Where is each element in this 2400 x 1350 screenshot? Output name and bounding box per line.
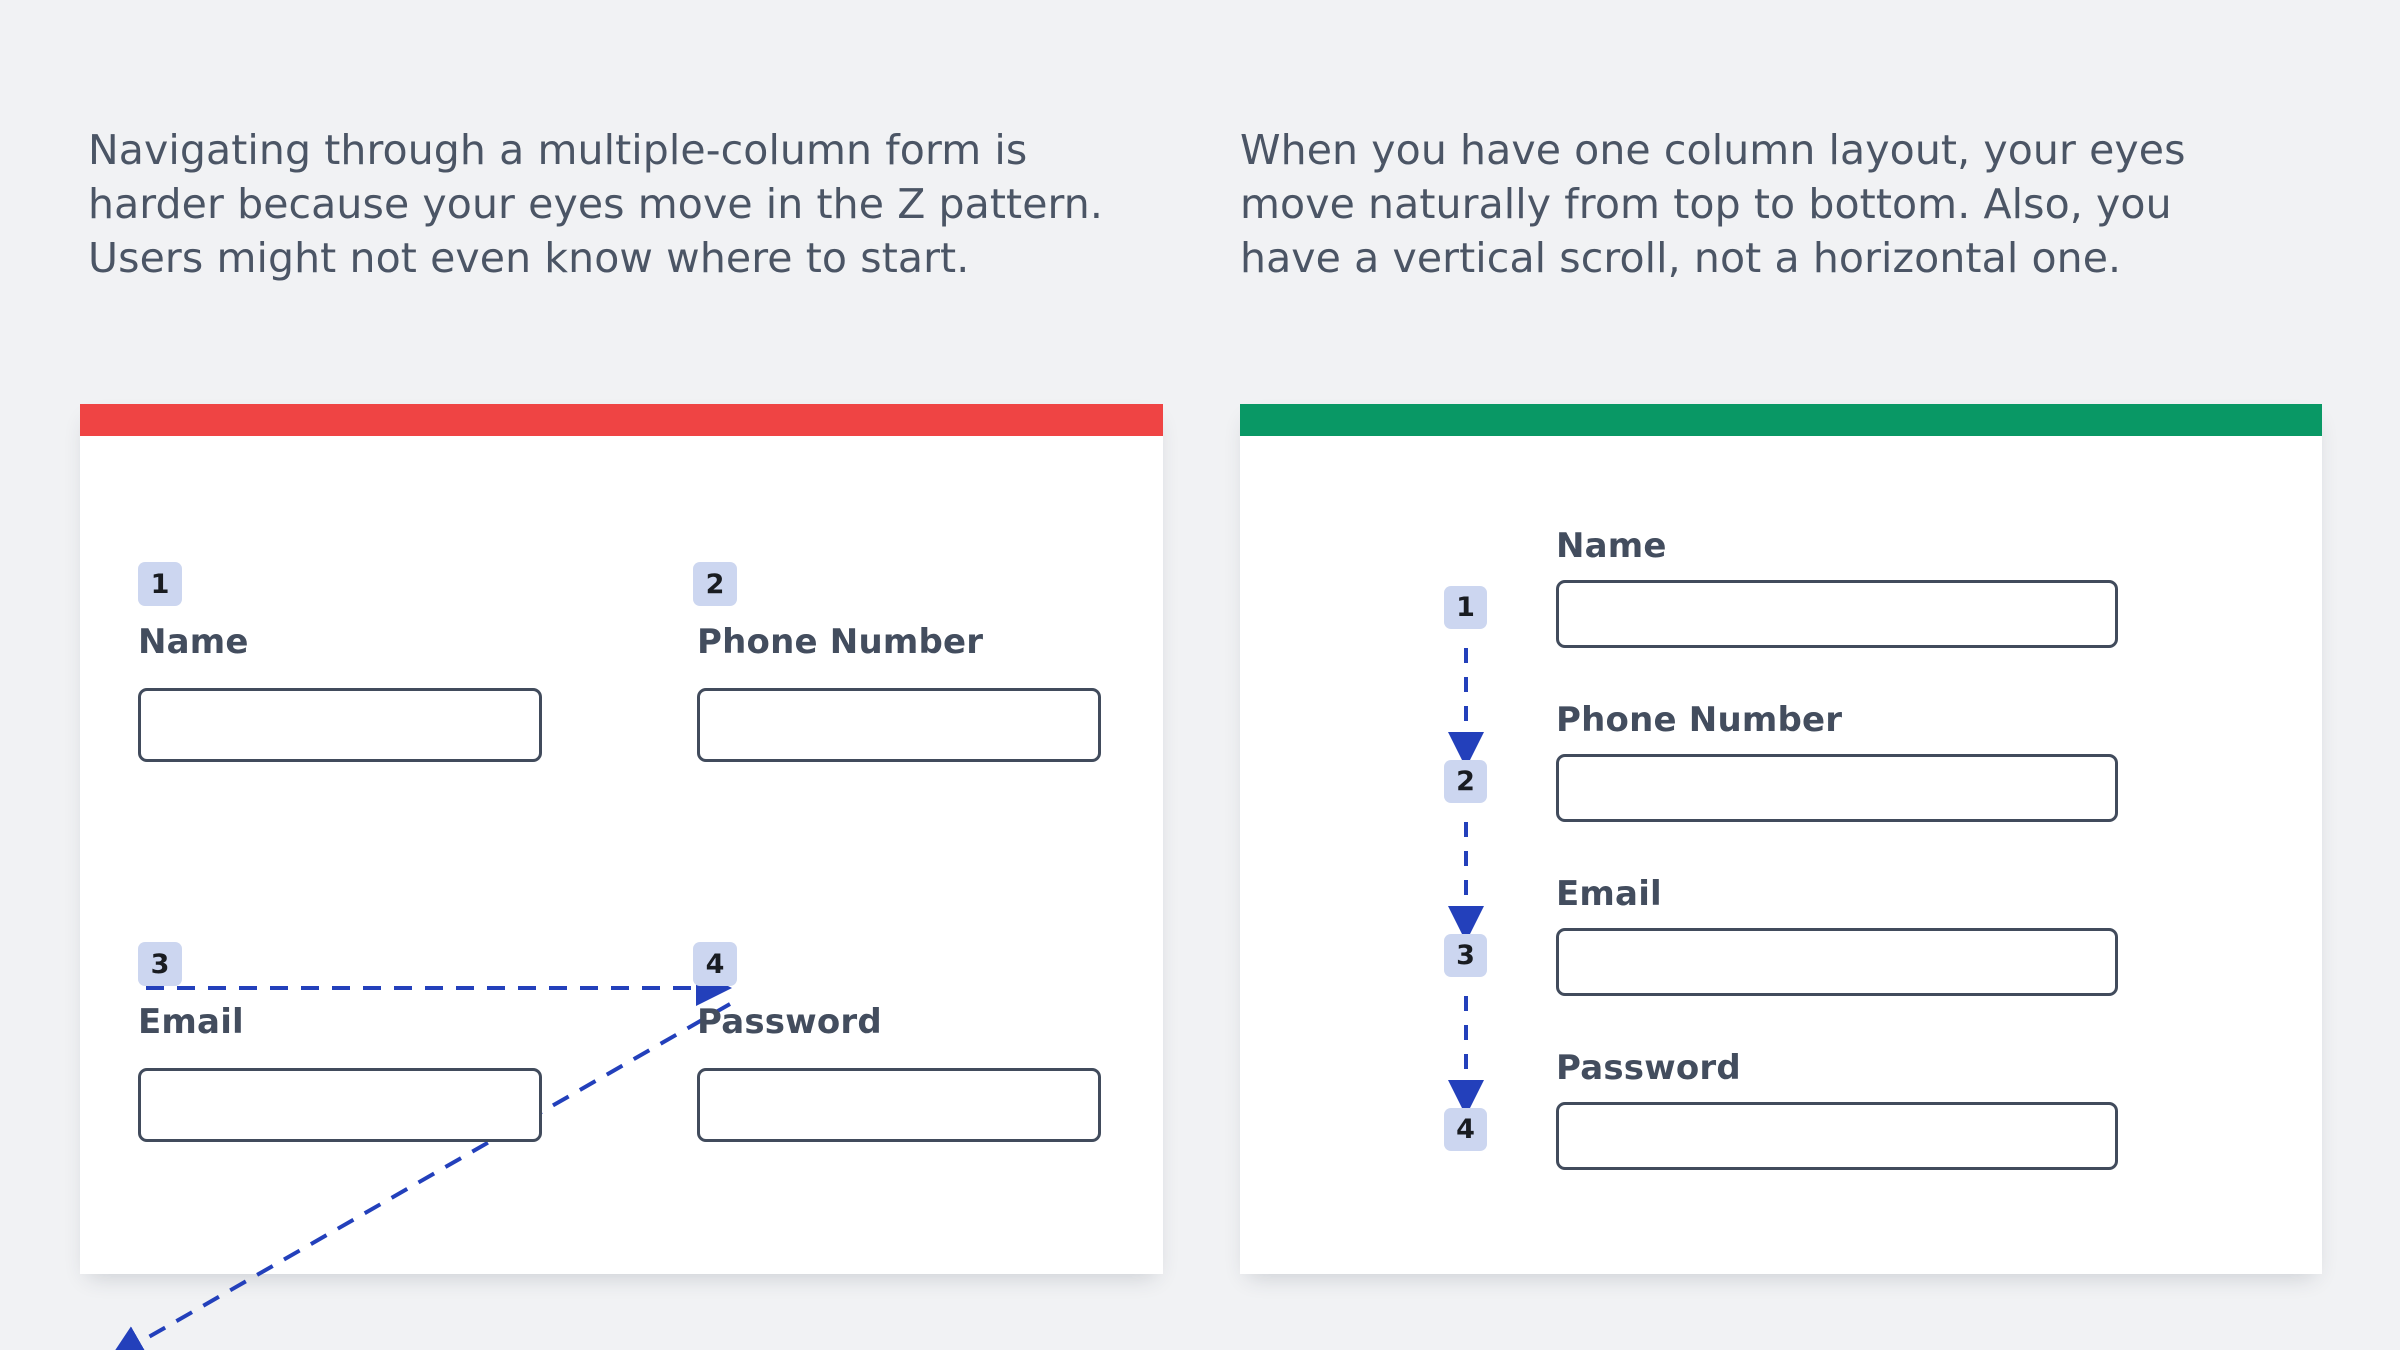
label-password-right: Password [1556, 1048, 1741, 1088]
label-phone-number-left: Phone Number [697, 622, 983, 662]
step-badge-2-left: 2 [693, 562, 737, 606]
input-phone-number-right[interactable] [1556, 754, 2118, 822]
input-password-left[interactable] [697, 1068, 1101, 1142]
step-badge-label: 3 [151, 949, 170, 980]
step-badge-label: 1 [151, 569, 170, 600]
card-accent-bar-green [1240, 404, 2322, 436]
multi-column-form-card [80, 404, 1163, 1274]
arrow-step2-to-step3 [133, 1004, 730, 1346]
input-password-right[interactable] [1556, 1102, 2118, 1170]
step-badge-3-left: 3 [138, 942, 182, 986]
input-name-right[interactable] [1556, 580, 2118, 648]
step-badge-2-right: 2 [1444, 760, 1487, 803]
right-caption: When you have one column layout, your ey… [1240, 123, 2280, 285]
input-email-left[interactable] [138, 1068, 542, 1142]
input-phone-number-left[interactable] [697, 688, 1101, 762]
label-email-right: Email [1556, 874, 1662, 914]
multi-column-form-body [80, 436, 1163, 1274]
card-accent-bar-red [80, 404, 1163, 436]
step-badge-label: 3 [1456, 940, 1475, 971]
step-badge-label: 1 [1456, 592, 1475, 623]
step-badge-4-left: 4 [693, 942, 737, 986]
step-badge-label: 2 [1456, 766, 1475, 797]
label-email-left: Email [138, 1002, 244, 1042]
step-badge-4-right: 4 [1444, 1108, 1487, 1151]
z-pattern-arrows [80, 436, 1163, 1274]
step-badge-1-right: 1 [1444, 586, 1487, 629]
label-phone-number-right: Phone Number [1556, 700, 1842, 740]
comparison-stage: Navigating through a multiple-column for… [0, 0, 2400, 1350]
input-email-right[interactable] [1556, 928, 2118, 996]
label-password-left: Password [697, 1002, 882, 1042]
label-name-right: Name [1556, 526, 1667, 566]
step-badge-label: 4 [1456, 1114, 1475, 1145]
step-badge-3-right: 3 [1444, 934, 1487, 977]
step-badge-label: 4 [706, 949, 725, 980]
label-name-left: Name [138, 622, 249, 662]
input-name-left[interactable] [138, 688, 542, 762]
left-caption: Navigating through a multiple-column for… [88, 123, 1158, 285]
step-badge-1-left: 1 [138, 562, 182, 606]
step-badge-label: 2 [706, 569, 725, 600]
